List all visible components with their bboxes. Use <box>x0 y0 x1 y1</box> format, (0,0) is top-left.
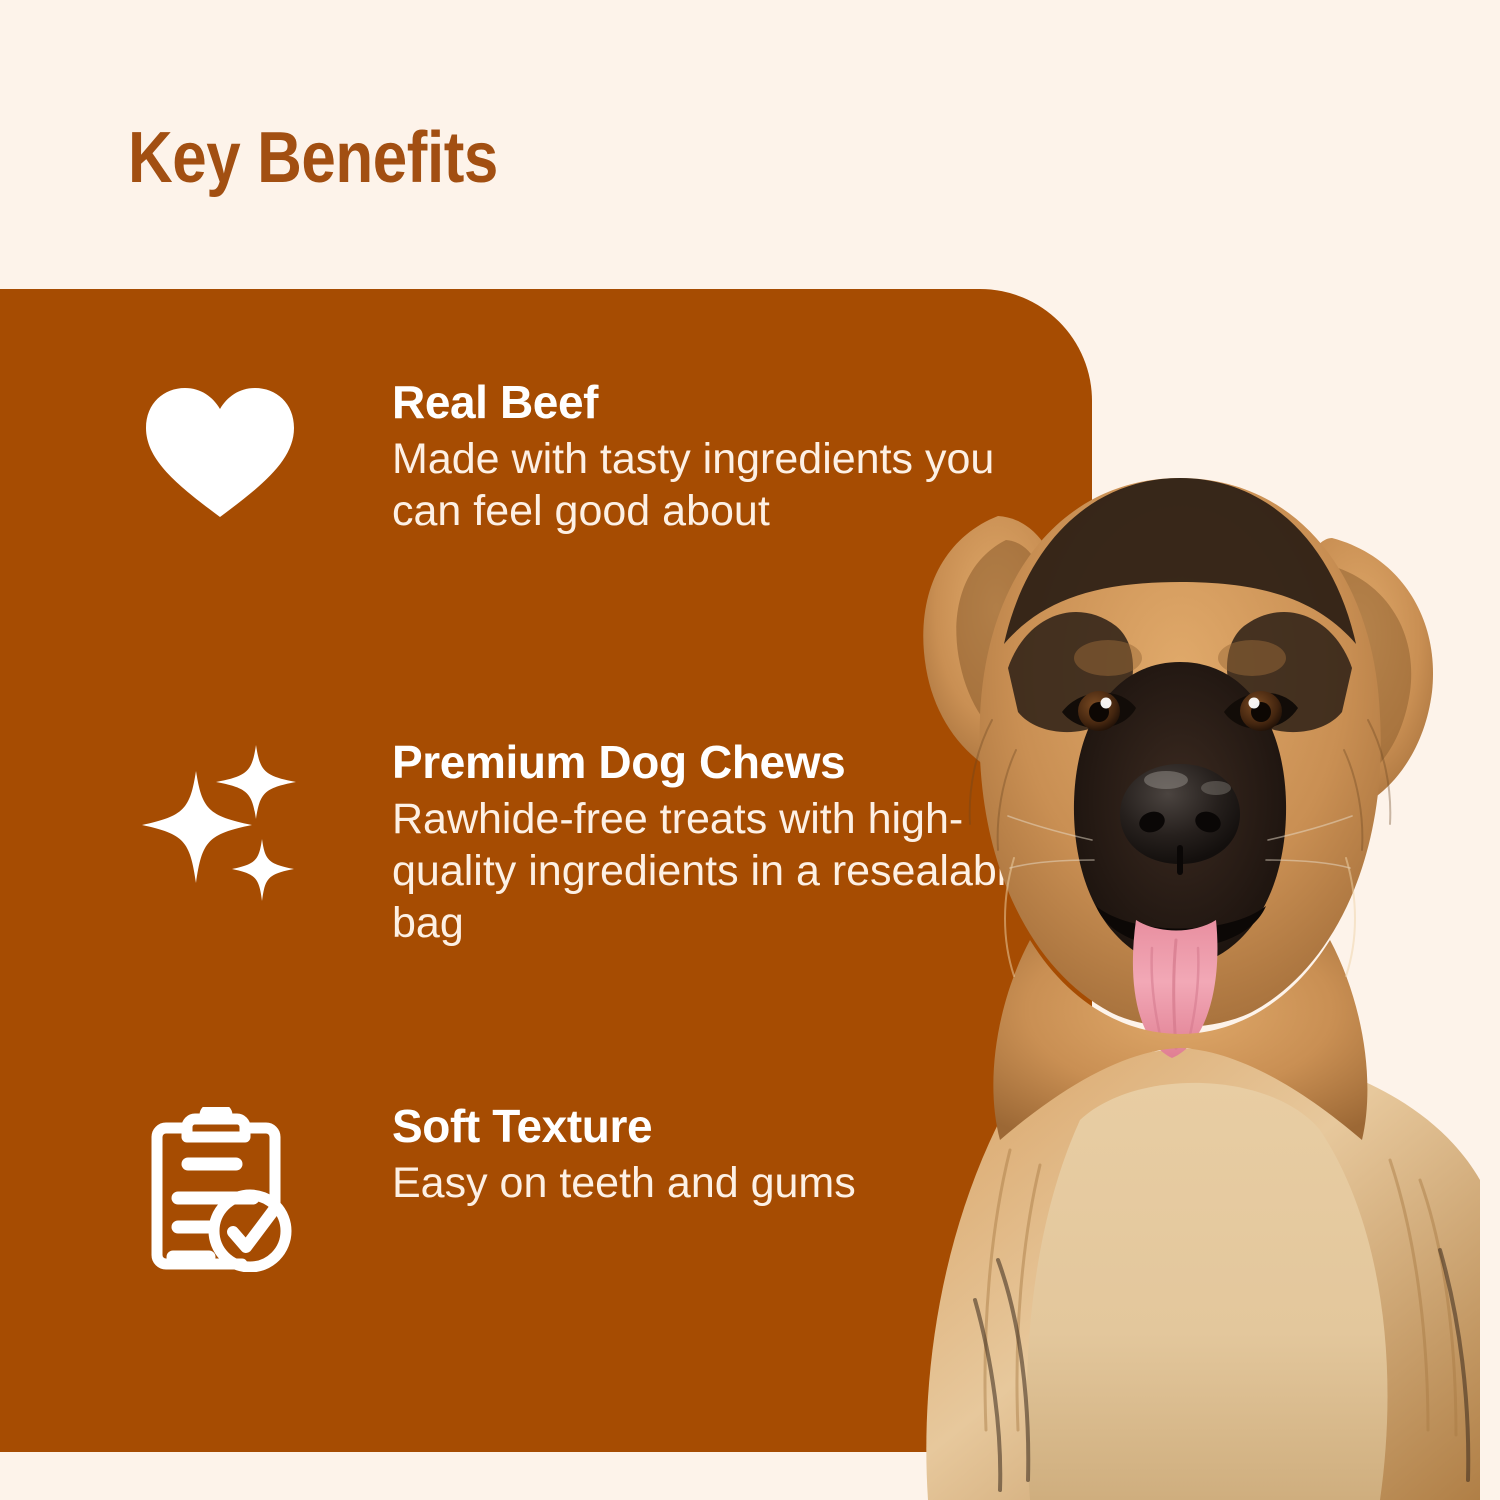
heart-icon <box>140 377 300 523</box>
sparkles-icon <box>140 737 300 903</box>
clipboard-check-icon <box>140 1101 300 1272</box>
benefit-text: Soft Texture Easy on teeth and gums <box>300 1101 856 1209</box>
dog-photo <box>880 420 1500 1500</box>
benefit-title: Soft Texture <box>392 1101 856 1153</box>
product-benefits-infographic: Key Benefits Real Beef Made with tasty i… <box>0 0 1500 1500</box>
page-title: Key Benefits <box>128 122 498 194</box>
benefit-item: Soft Texture Easy on teeth and gums <box>140 1101 856 1272</box>
benefit-description: Easy on teeth and gums <box>392 1157 856 1209</box>
